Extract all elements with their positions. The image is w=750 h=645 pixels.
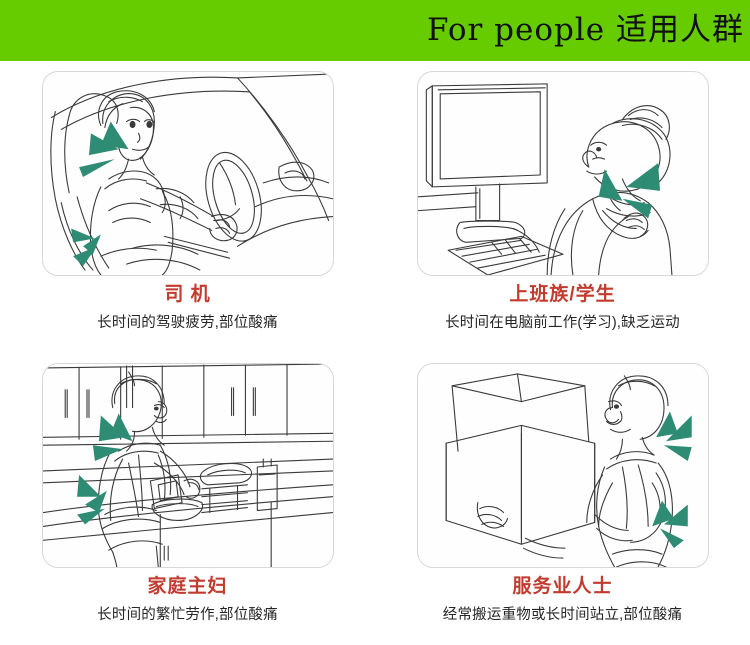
panel-office-worker-title: 上班族/学生: [509, 285, 615, 306]
panel-driver-caption: 长时间的驾驶疲劳,部位酸痛: [97, 311, 278, 332]
panel-housewife-title: 家庭主妇: [147, 577, 227, 598]
persona-panel-grid: 司 机 长时间的驾驶疲劳,部位酸痛: [0, 61, 750, 645]
panel-service-worker-title: 服务业人士: [512, 577, 612, 598]
panel-service-worker[interactable]: 服务业人士 经常搬运重物或长时间站立,部位酸痛: [375, 353, 750, 645]
housewife-illustration: [42, 363, 334, 568]
panel-driver-title: 司 机: [164, 285, 210, 306]
page-header: For people 适用人群: [0, 0, 750, 61]
panel-housewife[interactable]: 家庭主妇 长时间的繁忙劳作,部位酸痛: [0, 353, 375, 645]
page-title: For people 适用人群: [427, 15, 744, 46]
driver-illustration: [42, 71, 334, 276]
panel-office-worker-caption: 长时间在电脑前工作(学习),缺乏运动: [445, 311, 680, 332]
panel-driver[interactable]: 司 机 长时间的驾驶疲劳,部位酸痛: [0, 61, 375, 353]
office-worker-illustration: [417, 71, 709, 276]
panel-housewife-caption: 长时间的繁忙劳作,部位酸痛: [97, 603, 278, 624]
panel-service-worker-caption: 经常搬运重物或长时间站立,部位酸痛: [443, 603, 682, 624]
service-worker-illustration: [417, 363, 709, 568]
panel-office-worker[interactable]: 上班族/学生 长时间在电脑前工作(学习),缺乏运动: [375, 61, 750, 353]
